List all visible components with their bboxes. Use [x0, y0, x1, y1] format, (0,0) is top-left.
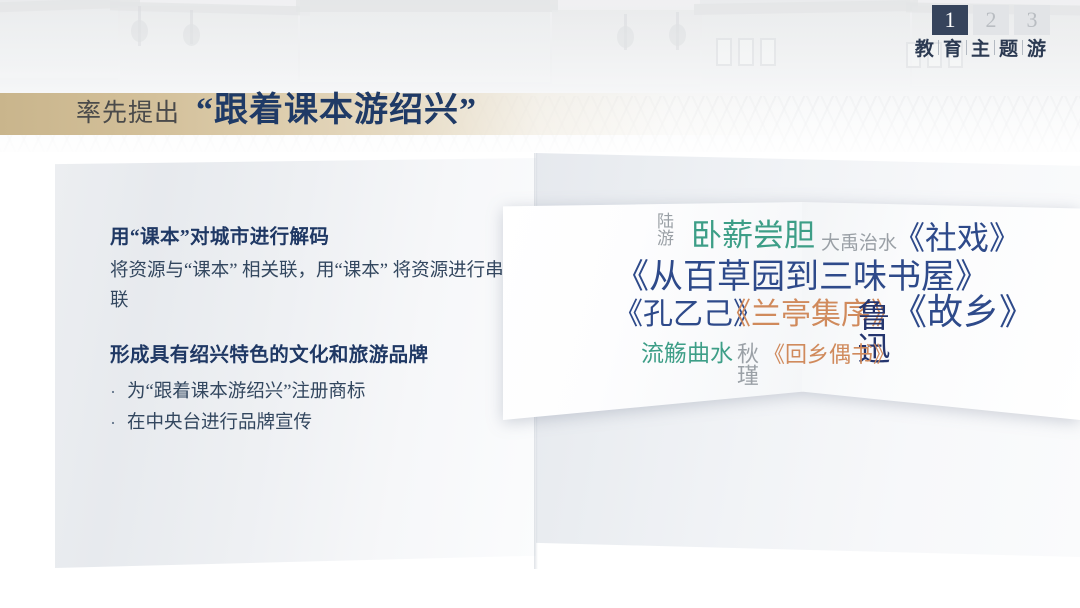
- word-cloud-term: 秋瑾: [735, 342, 757, 386]
- word-cloud-term: 卧薪尝胆: [691, 220, 815, 251]
- tab-3[interactable]: 3: [1014, 5, 1050, 35]
- word-cloud-term: 流觞曲水: [641, 342, 733, 365]
- word-cloud-term: 陆游: [655, 212, 672, 246]
- word-cloud-term: 《回乡偶书》: [763, 344, 895, 366]
- list-item: · 为“跟着课本游绍兴”注册商标: [110, 377, 520, 408]
- slide-root: 率先提出 “跟着课本游绍兴” 1 2 3 教 育 主 题 游 用“课本”对城市进…: [0, 0, 1080, 608]
- page-title: 率先提出 “跟着课本游绍兴”: [76, 82, 477, 131]
- word-cloud-term: 《从百草园到三味书屋》: [615, 260, 989, 294]
- bullet-text: 在中央台进行品牌宣传: [127, 408, 312, 439]
- title-prefix: 率先提出: [76, 93, 180, 129]
- caption-char-3: 主: [967, 34, 994, 61]
- word-cloud-term: 《社戏》: [893, 222, 1021, 254]
- section-tabs[interactable]: 1 2 3: [932, 5, 1050, 35]
- word-cloud-term: 大禹治水: [821, 234, 897, 253]
- caption-char-4: 题: [995, 34, 1022, 61]
- left-panel-content: 用“课本”对城市进行解码 将资源与“课本” 相关联，用“课本” 将资源进行串联 …: [110, 225, 520, 439]
- word-cloud-term: 《故乡》: [891, 294, 1035, 330]
- left-block2-heading: 形成具有绍兴特色的文化和旅游品牌: [110, 343, 520, 369]
- left-block1-heading: 用“课本”对城市进行解码: [110, 225, 520, 251]
- caption-char-5: 游: [1023, 34, 1050, 61]
- title-main: “跟着课本游绍兴”: [196, 82, 477, 131]
- bullet-dot-icon: ·: [110, 408, 116, 439]
- caption-char-2: 育: [939, 34, 966, 61]
- tab-1[interactable]: 1: [932, 5, 968, 35]
- tab-2[interactable]: 2: [973, 5, 1009, 35]
- word-cloud: 陆游卧薪尝胆大禹治水《社戏》《从百草园到三味书屋》《孔乙己》《兰亭集序》鲁迅《故…: [503, 202, 1080, 420]
- caption-char-1: 教: [911, 34, 938, 61]
- bullet-text: 为“跟着课本游绍兴”注册商标: [127, 377, 365, 408]
- bullet-dot-icon: ·: [110, 377, 116, 408]
- tabs-caption: 教 育 主 题 游: [911, 34, 1050, 61]
- left-block2-bullets: · 为“跟着课本游绍兴”注册商标 · 在中央台进行品牌宣传: [110, 377, 520, 440]
- left-block1-body: 将资源与“课本” 相关联，用“课本” 将资源进行串联: [110, 257, 520, 317]
- list-item: · 在中央台进行品牌宣传: [110, 408, 520, 439]
